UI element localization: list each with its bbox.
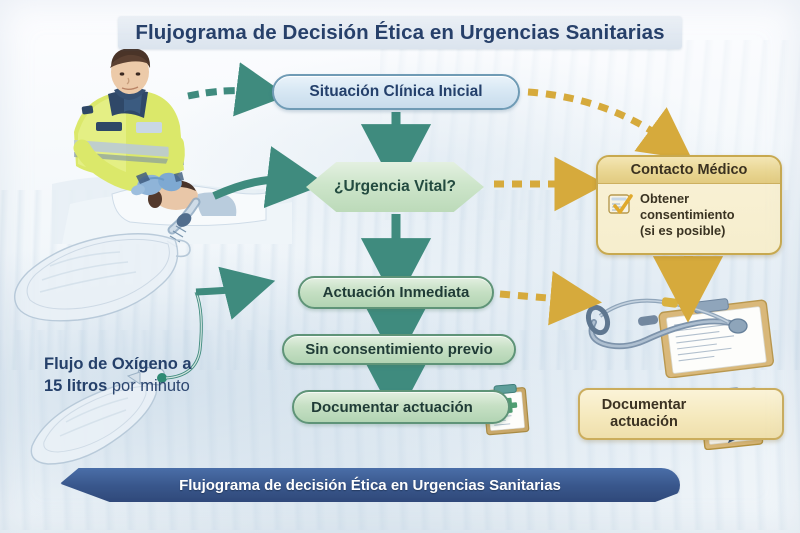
card-body-line2: consentimiento xyxy=(640,207,735,223)
consent-checklist-icon xyxy=(607,191,633,217)
node-label: Situación Clínica Inicial xyxy=(309,83,482,101)
card-body-line1: Obtener xyxy=(640,191,735,207)
card-body-text: Obtener consentimiento (si es posible) xyxy=(640,191,735,239)
card-header: Contacto Médico xyxy=(598,157,780,184)
oxygen-unit: por minuto xyxy=(107,377,190,395)
arrow-situacion-to-contacto xyxy=(528,92,668,142)
node-urgencia-vital[interactable]: ¿Urgencia Vital? xyxy=(306,162,484,212)
footer-title: Flujograma de decisión Ética en Urgencia… xyxy=(60,468,680,502)
card-label: Documentar actuación xyxy=(580,397,708,431)
node-sin-consentimiento-previo[interactable]: Sin consentimiento previo xyxy=(282,334,516,365)
card-documentar-actuacion[interactable]: Documentar actuación xyxy=(578,388,784,440)
footer-ribbon: Flujograma de decisión Ética en Urgencia… xyxy=(60,468,680,502)
arrow-stub xyxy=(684,256,693,264)
node-documentar-actuacion[interactable]: Documentar actuación xyxy=(292,390,510,424)
node-label: Sin consentimiento previo xyxy=(305,341,493,358)
card-body: Obtener consentimiento (si es posible) xyxy=(598,184,780,244)
node-label: Actuación Inmediata xyxy=(323,284,470,301)
card-header-label: Contacto Médico xyxy=(631,162,748,178)
oxygen-value: 15 litros xyxy=(44,377,107,395)
stethoscope-clipboard-illustration xyxy=(580,282,790,378)
node-label: ¿Urgencia Vital? xyxy=(334,178,456,196)
node-actuacion-inmediata[interactable]: Actuación Inmediata xyxy=(298,276,494,309)
oxygen-flow-annotation: Flujo de Oxígeno a 15 litros por minuto xyxy=(44,354,274,398)
node-label: Documentar actuación xyxy=(311,399,491,416)
node-situacion-clinica-inicial[interactable]: Situación Clínica Inicial xyxy=(272,74,520,110)
card-label-line2: actuación xyxy=(580,414,708,431)
page-title: Flujograma de Decisión Ética en Urgencia… xyxy=(135,21,664,45)
oxygen-line-1: Flujo de Oxígeno a xyxy=(44,354,274,376)
title-banner: Flujograma de Decisión Ética en Urgencia… xyxy=(118,16,682,49)
oxygen-reservoir-illustration xyxy=(0,196,250,466)
card-label-line1: Documentar xyxy=(580,397,708,414)
arrow-actuacion-to-clipboard xyxy=(500,294,572,300)
card-body-line3: (si es posible) xyxy=(640,223,735,239)
infographic-canvas: Situación Clínica Inicial ¿Urgencia Vita… xyxy=(0,0,800,533)
card-contacto-medico[interactable]: Contacto Médico Obtener consentimiento (… xyxy=(596,155,782,255)
